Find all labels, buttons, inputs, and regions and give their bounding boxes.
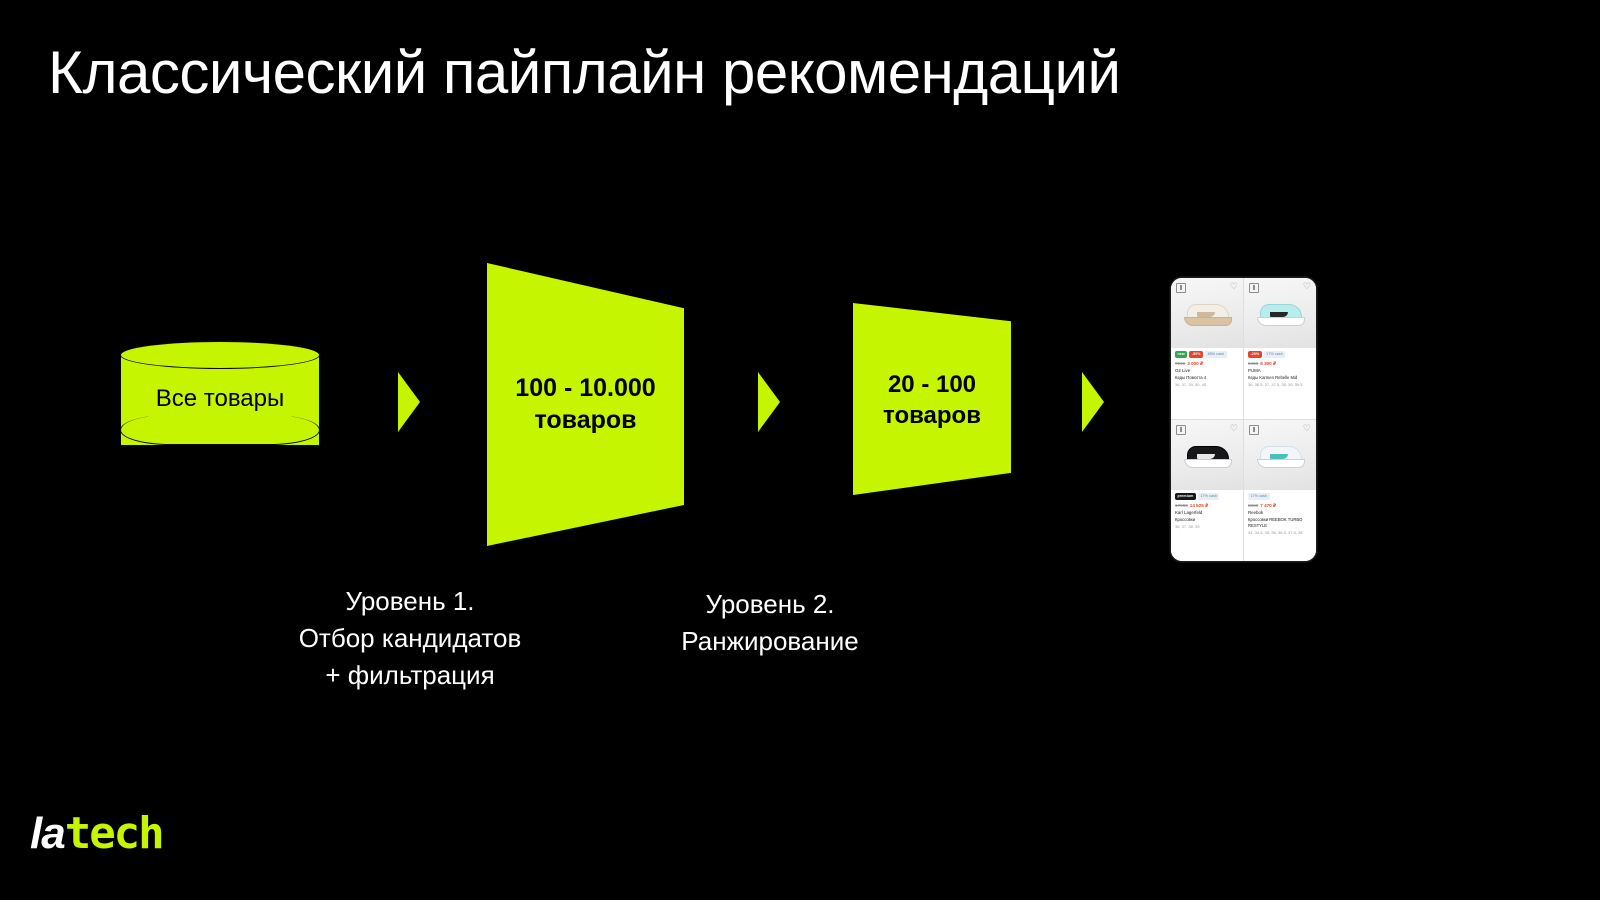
product-brand: PUMA bbox=[1248, 368, 1312, 374]
arrow-right-icon-2 bbox=[758, 372, 780, 432]
product-brand: Karl Lagerfeld bbox=[1175, 510, 1239, 516]
cashback-badge: 17% cash bbox=[1198, 493, 1220, 500]
slide-root: Классический пайплайн рекомендаций Все т… bbox=[0, 0, 1600, 900]
sneaker-illustration bbox=[1257, 444, 1303, 468]
price-row: 94006 300 ₽ bbox=[1248, 360, 1312, 367]
product-name: Кроссовки REEBOK TURBO RESTYLE bbox=[1248, 517, 1312, 529]
price-old: 8888 bbox=[1248, 503, 1258, 508]
price-row: 79993 000 ₽ bbox=[1175, 360, 1239, 367]
favorite-heart-icon[interactable]: ♡ bbox=[1230, 282, 1238, 291]
arrow-right-icon-1 bbox=[398, 372, 420, 432]
status-badge: new bbox=[1175, 351, 1187, 358]
discount-badge: -50% bbox=[1189, 351, 1203, 358]
product-card[interactable]: ♡ new -50% 85% cash 79993 000 ₽ bbox=[1171, 278, 1243, 419]
product-name: Кеды Помогта 4 bbox=[1175, 375, 1239, 381]
cylinder-bottom-ellipse bbox=[120, 415, 320, 445]
price-row: 1790014 525 ₽ bbox=[1175, 502, 1239, 509]
cylinder-top-ellipse bbox=[120, 341, 320, 369]
sneaker-illustration bbox=[1257, 302, 1303, 326]
discount-badge: -20% bbox=[1248, 351, 1262, 358]
badge-row: new -50% 85% cash bbox=[1175, 351, 1239, 358]
product-card[interactable]: ♡ 17% cash 88887 470 ₽ Reebok Кро bbox=[1244, 420, 1316, 561]
product-image: ♡ bbox=[1171, 278, 1243, 348]
product-grid: ♡ new -50% 85% cash 79993 000 ₽ bbox=[1171, 278, 1316, 561]
badge-row: premium 17% cash bbox=[1175, 493, 1239, 500]
stage-2-count-label: 20 - 100 товаров bbox=[853, 370, 1011, 431]
all-products-cylinder: Все товары bbox=[120, 341, 320, 459]
product-info: premium 17% cash 1790014 525 ₽ Karl Lage… bbox=[1171, 490, 1243, 561]
badge-row: -20% 17% cash bbox=[1248, 351, 1312, 358]
product-image: ♡ bbox=[1171, 420, 1243, 490]
price-new: 7 470 ₽ bbox=[1260, 503, 1276, 508]
stage-2-caption: Уровень 2. Ранжирование bbox=[620, 586, 920, 660]
product-sizes: 36, 37, 39, 50, 40 bbox=[1175, 382, 1239, 388]
phone-mockup: ♡ new -50% 85% cash 79993 000 ₽ bbox=[1170, 277, 1317, 562]
stage-1-caption: Уровень 1. Отбор кандидатов + фильтрация bbox=[250, 583, 570, 694]
product-info: new -50% 85% cash 79993 000 ₽ O2 Live Ке… bbox=[1171, 348, 1243, 419]
logo-part-tech: tech bbox=[65, 808, 163, 859]
product-sizes: 34, 34.5, 35, 36, 36.5, 37.5, 38 bbox=[1248, 530, 1312, 536]
cashback-badge: 17% cash bbox=[1248, 493, 1270, 500]
pipeline-diagram: Все товары 100 - 10.000 товаров 20 - 100… bbox=[0, 0, 1600, 900]
compare-icon[interactable] bbox=[1249, 283, 1259, 293]
badge-row: 17% cash bbox=[1248, 493, 1312, 500]
sneaker-illustration bbox=[1184, 444, 1230, 468]
product-name: Кроссовки bbox=[1175, 517, 1239, 523]
product-image: ♡ bbox=[1244, 420, 1316, 490]
sneaker-illustration bbox=[1184, 302, 1230, 326]
product-brand: O2 Live bbox=[1175, 368, 1239, 374]
price-new: 14 525 ₽ bbox=[1190, 503, 1209, 508]
favorite-heart-icon[interactable]: ♡ bbox=[1303, 424, 1311, 433]
compare-icon[interactable] bbox=[1249, 425, 1259, 435]
latech-logo: latech bbox=[30, 812, 163, 856]
compare-icon[interactable] bbox=[1176, 283, 1186, 293]
price-old: 7999 bbox=[1175, 361, 1185, 366]
price-old: 17900 bbox=[1175, 503, 1188, 508]
product-card[interactable]: ♡ -20% 17% cash 94006 300 ₽ PUM bbox=[1244, 278, 1316, 419]
price-new: 3 000 ₽ bbox=[1187, 361, 1203, 366]
favorite-heart-icon[interactable]: ♡ bbox=[1303, 282, 1311, 291]
product-image: ♡ bbox=[1244, 278, 1316, 348]
price-row: 88887 470 ₽ bbox=[1248, 502, 1312, 509]
product-name: Кеды Karmen Rebelle Mid bbox=[1248, 375, 1312, 381]
cashback-badge: 17% cash bbox=[1264, 351, 1286, 358]
price-new: 6 300 ₽ bbox=[1260, 361, 1276, 366]
all-products-label: Все товары bbox=[120, 385, 320, 413]
arrow-right-icon-3 bbox=[1082, 372, 1104, 432]
logo-part-la: la bbox=[30, 809, 65, 858]
product-card[interactable]: ♡ premium 17% cash 1790014 525 ₽ bbox=[1171, 420, 1243, 561]
favorite-heart-icon[interactable]: ♡ bbox=[1230, 424, 1238, 433]
price-old: 9400 bbox=[1248, 361, 1258, 366]
product-sizes: 36, 37, 38, 39 bbox=[1175, 524, 1239, 530]
stage-1-count-label: 100 - 10.000 товаров bbox=[487, 372, 684, 436]
product-sizes: 36, 36.5, 37, 37.5, 38, 39, 39.5 bbox=[1248, 382, 1312, 388]
product-brand: Reebok bbox=[1248, 510, 1312, 516]
product-info: -20% 17% cash 94006 300 ₽ PUMA Кеды Karm… bbox=[1244, 348, 1316, 419]
premium-badge: premium bbox=[1175, 493, 1196, 500]
compare-icon[interactable] bbox=[1176, 425, 1186, 435]
cashback-badge: 85% cash bbox=[1205, 351, 1227, 358]
product-info: 17% cash 88887 470 ₽ Reebok Кроссовки RE… bbox=[1244, 490, 1316, 561]
